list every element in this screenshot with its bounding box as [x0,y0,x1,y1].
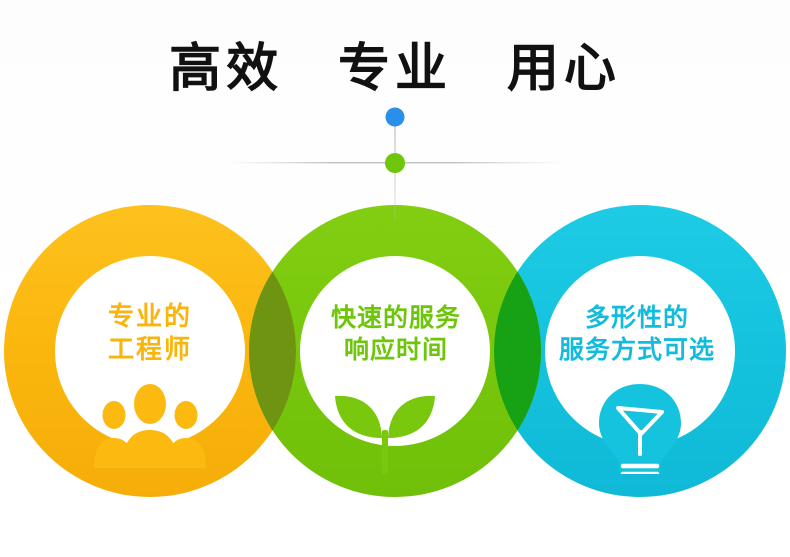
venn-diagram [0,195,790,515]
headline-word-2: 专业 [338,26,452,101]
blue-dot [386,108,405,127]
horizontal-rule [225,162,565,163]
green-dot [385,153,405,173]
infographic-canvas: 高效 专业 用心 [0,0,790,557]
headline-word-3: 用心 [507,26,621,101]
headline-word-1: 高效 [169,26,283,101]
page-title: 高效 专业 用心 [0,26,790,101]
